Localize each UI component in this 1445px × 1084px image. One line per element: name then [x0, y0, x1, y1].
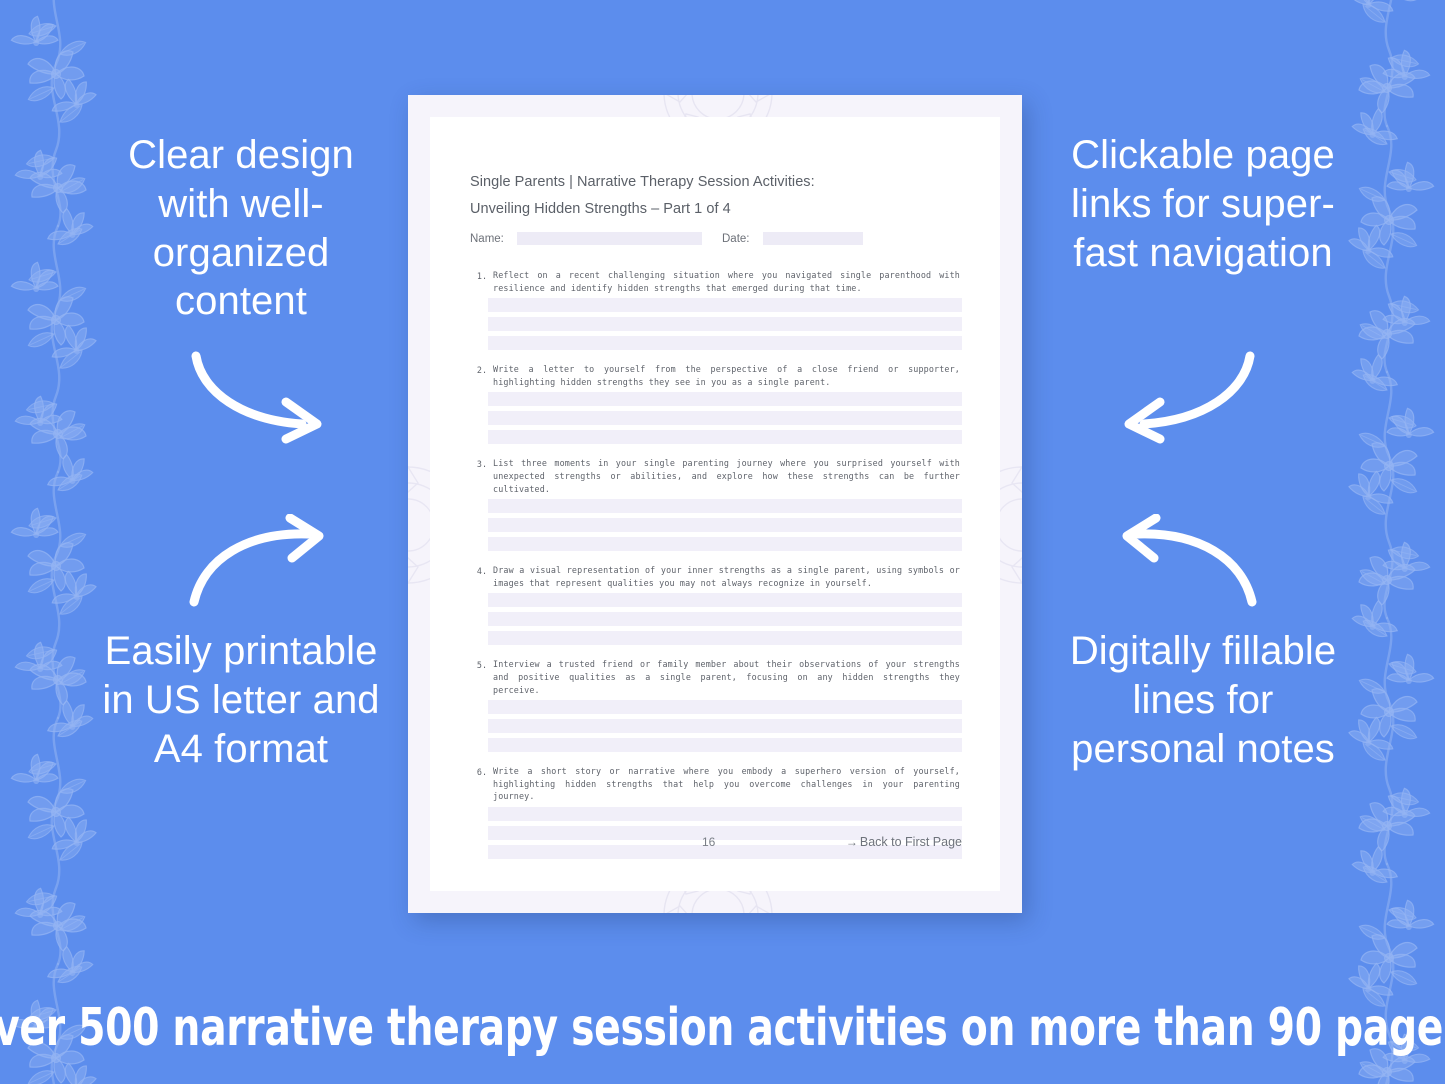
activity-answer-lines	[488, 499, 962, 551]
activity-answer-lines	[488, 593, 962, 645]
activity-prompt-row: 6.Write a short story or narrative where…	[470, 765, 962, 803]
caption-top-left: Clear design with well-organized content	[96, 131, 386, 326]
activity-text: Write a letter to yourself from the pers…	[487, 363, 962, 388]
back-to-first-page-link[interactable]: →Back to First Page	[846, 835, 962, 849]
fillable-line[interactable]	[488, 392, 962, 406]
activity-number: 2.	[470, 363, 487, 376]
activity-number: 4.	[470, 564, 487, 577]
activity-prompt-row: 5.Interview a trusted friend or family m…	[470, 658, 962, 696]
fillable-line[interactable]	[488, 700, 962, 714]
page-title-line-1: Single Parents | Narrative Therapy Sessi…	[470, 169, 962, 196]
curved-arrow-bottom-right-icon	[1100, 514, 1260, 614]
arrow-right-icon: →	[846, 835, 858, 849]
fillable-line[interactable]	[488, 518, 962, 532]
activity-prompt-row: 4.Draw a visual representation of your i…	[470, 564, 962, 589]
activity-item: 3.List three moments in your single pare…	[470, 457, 962, 551]
fillable-line[interactable]	[488, 298, 962, 312]
activity-answer-lines	[488, 700, 962, 752]
curved-arrow-bottom-left-icon	[186, 514, 346, 614]
fillable-line[interactable]	[488, 719, 962, 733]
fillable-line[interactable]	[488, 537, 962, 551]
activity-list: 1.Reflect on a recent challenging situat…	[470, 269, 962, 864]
name-input[interactable]	[517, 232, 702, 245]
fillable-line[interactable]	[488, 430, 962, 444]
name-label: Name:	[470, 233, 504, 245]
date-input[interactable]	[763, 232, 863, 245]
caption-top-right: Clickable page links for super-fast navi…	[1058, 131, 1348, 277]
activity-number: 6.	[470, 765, 487, 778]
activity-item: 5.Interview a trusted friend or family m…	[470, 658, 962, 752]
activity-text: Reflect on a recent challenging situatio…	[487, 269, 962, 294]
page-title: Single Parents | Narrative Therapy Sessi…	[470, 169, 962, 223]
activity-text: Write a short story or narrative where y…	[487, 765, 962, 803]
caption-bottom-right: Digitally fillable lines for personal no…	[1058, 627, 1348, 773]
activity-number: 1.	[470, 269, 487, 282]
fillable-line[interactable]	[488, 807, 962, 821]
page-footer: 16 →Back to First Page	[470, 835, 962, 853]
activity-text: List three moments in your single parent…	[487, 457, 962, 495]
activity-item: 2.Write a letter to yourself from the pe…	[470, 363, 962, 444]
activity-prompt-row: 3.List three moments in your single pare…	[470, 457, 962, 495]
caption-bottom-left: Easily printable in US letter and A4 for…	[96, 627, 386, 773]
back-to-first-page-label: Back to First Page	[860, 835, 962, 849]
fillable-line[interactable]	[488, 738, 962, 752]
activity-prompt-row: 1.Reflect on a recent challenging situat…	[470, 269, 962, 294]
activity-text: Interview a trusted friend or family mem…	[487, 658, 962, 696]
bottom-banner: Over 500 narrative therapy session activ…	[0, 972, 1445, 1084]
date-label: Date:	[722, 233, 750, 245]
fillable-line[interactable]	[488, 593, 962, 607]
fillable-line[interactable]	[488, 631, 962, 645]
page-number: 16	[702, 835, 715, 849]
activity-answer-lines	[488, 298, 962, 350]
fillable-line[interactable]	[488, 411, 962, 425]
activity-number: 5.	[470, 658, 487, 671]
activity-item: 4.Draw a visual representation of your i…	[470, 564, 962, 645]
activity-item: 1.Reflect on a recent challenging situat…	[470, 269, 962, 350]
page-title-line-2: Unveiling Hidden Strengths – Part 1 of 4	[470, 196, 962, 223]
activity-prompt-row: 2.Write a letter to yourself from the pe…	[470, 363, 962, 388]
document-preview[interactable]: Single Parents | Narrative Therapy Sessi…	[408, 95, 1022, 913]
fillable-line[interactable]	[488, 336, 962, 350]
activity-number: 3.	[470, 457, 487, 470]
fillable-line[interactable]	[488, 317, 962, 331]
bottom-banner-text: Over 500 narrative therapy session activ…	[0, 998, 1445, 1058]
fillable-line[interactable]	[488, 499, 962, 513]
activity-text: Draw a visual representation of your inn…	[487, 564, 962, 589]
fillable-line[interactable]	[488, 612, 962, 626]
curved-arrow-top-left-icon	[186, 344, 346, 444]
curved-arrow-top-right-icon	[1100, 344, 1260, 444]
activity-answer-lines	[488, 392, 962, 444]
worksheet-page: Single Parents | Narrative Therapy Sessi…	[430, 117, 1000, 891]
name-date-row: Name: Date:	[470, 232, 962, 248]
